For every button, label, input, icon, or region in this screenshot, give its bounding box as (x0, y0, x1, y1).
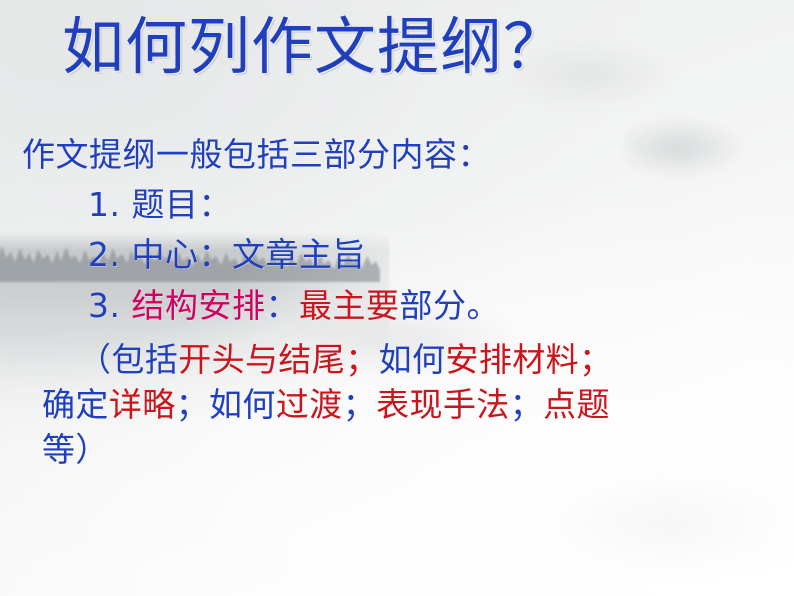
paragraph-sep-3: ； (176, 385, 209, 424)
slide-canvas: 如何列作文提纲？ 作文提纲一般包括三部分内容： 1. 题目： 2. 中心：文章主… (0, 0, 794, 596)
outline-item-2: 2. 中心：文章主旨 (0, 232, 794, 278)
detail-paragraph: （包括开头与结尾；如何安排材料；确定详略；如何过渡；表现手法；点题等） (0, 338, 670, 473)
item3-emphasis: 最主要 (299, 286, 400, 325)
outline-body: 作文提纲一般包括三部分内容： 1. 题目： 2. 中心：文章主旨 3. 结构安排… (0, 132, 794, 473)
paragraph-how-4: 如何 (209, 385, 276, 424)
paragraph-expression-technique: 表现手法 (376, 385, 510, 424)
item3-colon: ： (266, 286, 300, 325)
paragraph-sep-2: ； (579, 340, 612, 379)
paragraph-close: 等） (42, 430, 109, 469)
paragraph-open: （包括 (78, 340, 178, 379)
item3-tail: 部分。 (400, 286, 501, 325)
paragraph-sep-5: ； (510, 385, 543, 424)
page-title: 如何列作文提纲？ (62, 14, 566, 81)
paragraph-how-2: 如何 (379, 340, 446, 379)
paragraph-detail-brevity: 详略 (109, 385, 176, 424)
paragraph-determine: 确定 (42, 385, 109, 424)
paragraph-opening-and-ending: 开头与结尾 (178, 340, 345, 379)
outline-item-3: 3. 结构安排：最主要部分。 (0, 283, 794, 329)
paragraph-point-theme: 点题 (543, 385, 610, 424)
intro-line: 作文提纲一般包括三部分内容： (0, 132, 794, 178)
slide-content: 如何列作文提纲？ 作文提纲一般包括三部分内容： 1. 题目： 2. 中心：文章主… (0, 0, 794, 596)
paragraph-arrange-material: 安排材料 (445, 340, 579, 379)
item3-label: 结构安排 (132, 286, 266, 325)
item3-number: 3. (88, 286, 121, 325)
paragraph-sep-1: ； (345, 340, 378, 379)
outline-item-1: 1. 题目： (0, 182, 794, 228)
paragraph-sep-4: ； (343, 385, 376, 424)
paragraph-transition: 过渡 (276, 385, 343, 424)
